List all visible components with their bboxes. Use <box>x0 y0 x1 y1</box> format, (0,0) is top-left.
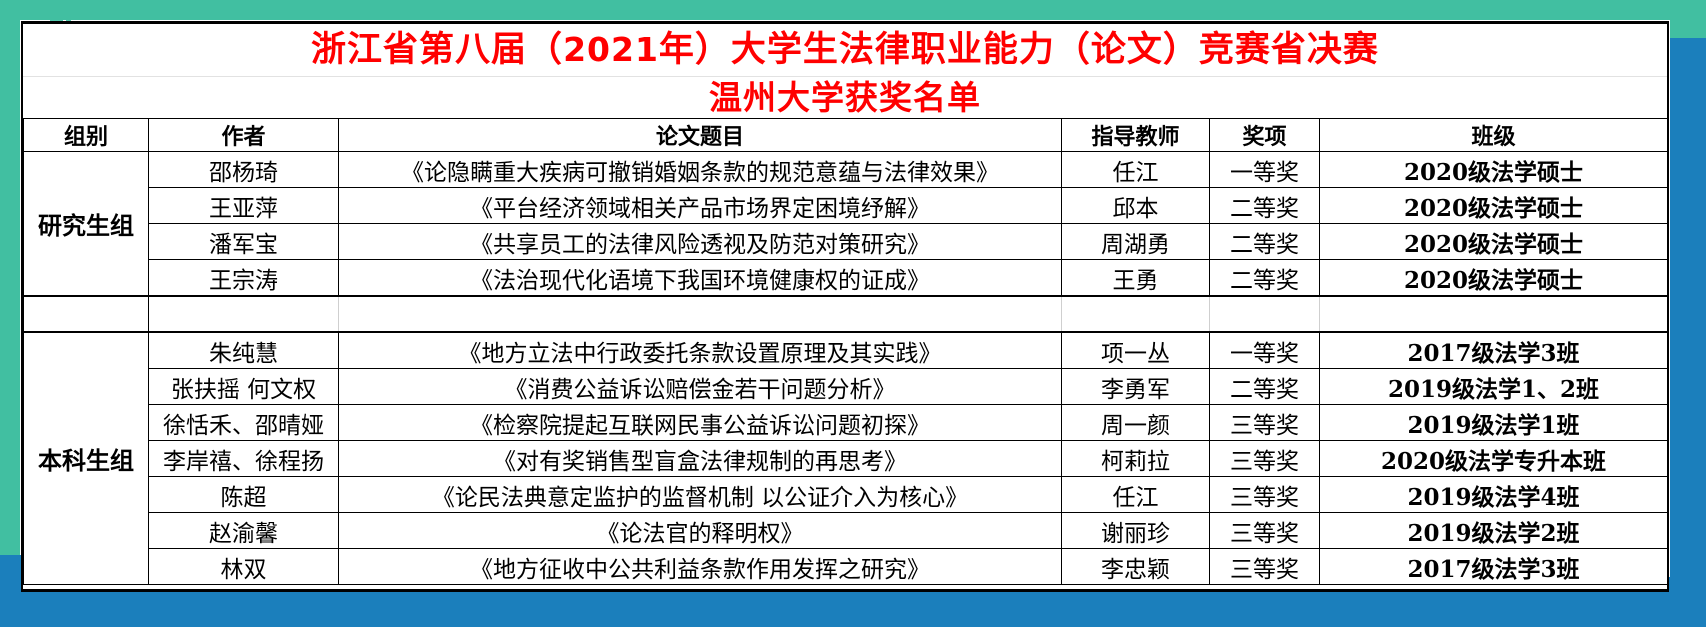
cell-mentor: 任江 <box>1062 152 1210 188</box>
cell-award: 三等奖 <box>1210 405 1320 441</box>
cell-class: 2019级法学4班 <box>1320 477 1668 513</box>
cell-mentor: 周一颜 <box>1062 405 1210 441</box>
cell-mentor: 王勇 <box>1062 260 1210 297</box>
cell-paper-title: 《论法官的释明权》 <box>339 513 1062 549</box>
cell-award: 二等奖 <box>1210 369 1320 405</box>
table-spacer-row <box>24 296 1668 332</box>
column-header-group: 组别 <box>24 119 149 152</box>
cell-mentor: 柯莉拉 <box>1062 441 1210 477</box>
cell-mentor: 李忠颖 <box>1062 549 1210 585</box>
cell-paper-title: 《检察院提起互联网民事公益诉讼问题初探》 <box>339 405 1062 441</box>
table-row[interactable]: 本科生组 朱纯慧 《地方立法中行政委托条款设置原理及其实践》 项一丛 一等奖 2… <box>24 332 1668 369</box>
cell-paper-title: 《对有奖销售型盲盒法律规制的再思考》 <box>339 441 1062 477</box>
table-row[interactable]: 林双 《地方征收中公共利益条款作用发挥之研究》 李忠颖 三等奖 2017级法学3… <box>24 549 1668 585</box>
cell-author: 林双 <box>149 549 339 585</box>
decor-bar-blue-bottom <box>0 589 1706 627</box>
cell-mentor: 项一丛 <box>1062 332 1210 369</box>
spacer-cell-award <box>1210 296 1320 332</box>
cell-class: 2017级法学3班 <box>1320 549 1668 585</box>
column-header-paper-title: 论文题目 <box>339 119 1062 152</box>
group-label-graduate: 研究生组 <box>24 152 149 297</box>
cell-class: 2019级法学1班 <box>1320 405 1668 441</box>
cell-paper-title: 《论民法典意定监护的监督机制 以公证介入为核心》 <box>339 477 1062 513</box>
decor-bar-teal-top <box>0 0 1706 20</box>
title-block: 浙江省第八届（2021年）大学生法律职业能力（论文）竞赛省决赛 温州大学获奖名单 <box>23 24 1667 118</box>
award-table: 组别 作者 论文题目 指导教师 奖项 班级 研究生组 邵杨琦 《论隐瞒重大疾病可… <box>23 118 1668 585</box>
cell-class: 2019级法学2班 <box>1320 513 1668 549</box>
decor-bar-blue-left-foot <box>0 555 22 627</box>
cell-author: 李岸禧、徐程扬 <box>149 441 339 477</box>
table-body: 研究生组 邵杨琦 《论隐瞒重大疾病可撤销婚姻条款的规范意蕴与法律效果》 任江 一… <box>24 152 1668 585</box>
cell-mentor: 邱本 <box>1062 188 1210 224</box>
column-header-award: 奖项 <box>1210 119 1320 152</box>
cell-class: 2020级法学硕士 <box>1320 188 1668 224</box>
cell-class: 2020级法学专升本班 <box>1320 441 1668 477</box>
cell-award: 三等奖 <box>1210 513 1320 549</box>
cell-award: 一等奖 <box>1210 152 1320 188</box>
table-row[interactable]: 王亚萍 《平台经济领域相关产品市场界定困境纾解》 邱本 二等奖 2020级法学硕… <box>24 188 1668 224</box>
cell-award: 三等奖 <box>1210 549 1320 585</box>
spacer-cell-paper-title <box>339 296 1062 332</box>
table-row[interactable]: 李岸禧、徐程扬 《对有奖销售型盲盒法律规制的再思考》 柯莉拉 三等奖 2020级… <box>24 441 1668 477</box>
cell-paper-title: 《论隐瞒重大疾病可撤销婚姻条款的规范意蕴与法律效果》 <box>339 152 1062 188</box>
cell-paper-title: 《地方征收中公共利益条款作用发挥之研究》 <box>339 549 1062 585</box>
cell-author: 朱纯慧 <box>149 332 339 369</box>
cell-mentor: 任江 <box>1062 477 1210 513</box>
title-line1-after: 年）大学生法律职业能力（论文）竞赛省决赛 <box>659 29 1379 70</box>
spacer-cell-author <box>149 296 339 332</box>
cell-award: 二等奖 <box>1210 260 1320 297</box>
cell-class: 2017级法学3班 <box>1320 332 1668 369</box>
cell-mentor: 周湖勇 <box>1062 224 1210 260</box>
column-header-author: 作者 <box>149 119 339 152</box>
cell-paper-title: 《法治现代化语境下我国环境健康权的证成》 <box>339 260 1062 297</box>
cell-author: 邵杨琦 <box>149 152 339 188</box>
table-row[interactable]: 赵渝馨 《论法官的释明权》 谢丽珍 三等奖 2019级法学2班 <box>24 513 1668 549</box>
cell-mentor: 李勇军 <box>1062 369 1210 405</box>
cell-author: 徐恬禾、邵晴娅 <box>149 405 339 441</box>
cell-author: 潘军宝 <box>149 224 339 260</box>
cell-award: 一等奖 <box>1210 332 1320 369</box>
cell-class: 2020级法学硕士 <box>1320 224 1668 260</box>
cell-award: 二等奖 <box>1210 188 1320 224</box>
table-row[interactable]: 张扶摇 何文权 《消费公益诉讼赔偿金若干问题分析》 李勇军 二等奖 2019级法… <box>24 369 1668 405</box>
table-row[interactable]: 徐恬禾、邵晴娅 《检察院提起互联网民事公益诉讼问题初探》 周一颜 三等奖 201… <box>24 405 1668 441</box>
table-row[interactable]: 王宗涛 《法治现代化语境下我国环境健康权的证成》 王勇 二等奖 2020级法学硕… <box>24 260 1668 297</box>
cell-author: 王亚萍 <box>149 188 339 224</box>
cell-paper-title: 《地方立法中行政委托条款设置原理及其实践》 <box>339 332 1062 369</box>
slide-canvas: 浙江省第八届（2021年）大学生法律职业能力（论文）竞赛省决赛 温州大学获奖名单… <box>0 0 1706 627</box>
page-title-line-2: 温州大学获奖名单 <box>23 77 1667 118</box>
cell-author: 王宗涛 <box>149 260 339 297</box>
table-row[interactable]: 研究生组 邵杨琦 《论隐瞒重大疾病可撤销婚姻条款的规范意蕴与法律效果》 任江 一… <box>24 152 1668 188</box>
decor-bar-teal-right <box>1670 0 1706 38</box>
table-header-row: 组别 作者 论文题目 指导教师 奖项 班级 <box>24 119 1668 152</box>
table-row[interactable]: 潘军宝 《共享员工的法律风险透视及防范对策研究》 周湖勇 二等奖 2020级法学… <box>24 224 1668 260</box>
page-title-line-1: 浙江省第八届（2021年）大学生法律职业能力（论文）竞赛省决赛 <box>23 24 1667 77</box>
cell-award: 二等奖 <box>1210 224 1320 260</box>
table-row[interactable]: 陈超 《论民法典意定监护的监督机制 以公证介入为核心》 任江 三等奖 2019级… <box>24 477 1668 513</box>
cell-class: 2020级法学硕士 <box>1320 152 1668 188</box>
cell-award: 三等奖 <box>1210 441 1320 477</box>
cell-mentor: 谢丽珍 <box>1062 513 1210 549</box>
cell-award: 三等奖 <box>1210 477 1320 513</box>
cell-author: 赵渝馨 <box>149 513 339 549</box>
decor-bar-teal-left <box>0 0 20 600</box>
title-year: 2021 <box>563 30 659 69</box>
cell-paper-title: 《共享员工的法律风险透视及防范对策研究》 <box>339 224 1062 260</box>
cell-author: 陈超 <box>149 477 339 513</box>
spacer-cell-class <box>1320 296 1668 332</box>
cell-paper-title: 《平台经济领域相关产品市场界定困境纾解》 <box>339 188 1062 224</box>
cell-paper-title: 《消费公益诉讼赔偿金若干问题分析》 <box>339 369 1062 405</box>
column-header-class: 班级 <box>1320 119 1668 152</box>
group-label-undergraduate: 本科生组 <box>24 332 149 585</box>
cell-author: 张扶摇 何文权 <box>149 369 339 405</box>
table-header: 组别 作者 论文题目 指导教师 奖项 班级 <box>24 119 1668 152</box>
cell-class: 2020级法学硕士 <box>1320 260 1668 297</box>
title-line1-before: 浙江省第八届（ <box>311 29 563 70</box>
column-header-mentor: 指导教师 <box>1062 119 1210 152</box>
award-list-sheet: 浙江省第八届（2021年）大学生法律职业能力（论文）竞赛省决赛 温州大学获奖名单… <box>21 21 1669 592</box>
cell-class: 2019级法学1、2班 <box>1320 369 1668 405</box>
spacer-cell-mentor <box>1062 296 1210 332</box>
spacer-cell-group <box>24 296 149 332</box>
decor-bar-blue-right <box>1670 38 1706 627</box>
